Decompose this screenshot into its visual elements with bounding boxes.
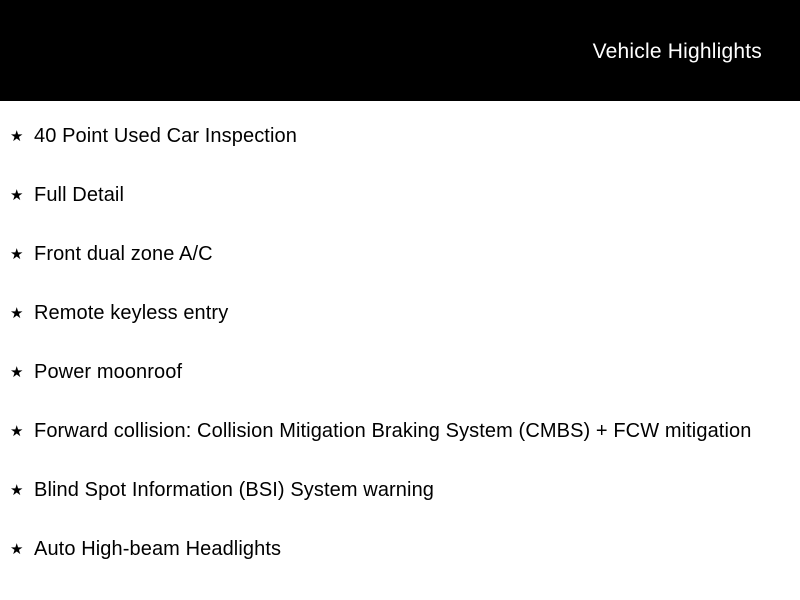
list-item: ★ Power moonroof (0, 355, 800, 389)
star-icon: ★ (10, 355, 34, 389)
star-icon: ★ (10, 473, 34, 507)
list-item: ★ Blind Spot Information (BSI) System wa… (0, 473, 800, 507)
star-icon: ★ (10, 414, 34, 448)
list-item-label: 40 Point Used Car Inspection (34, 119, 769, 153)
list-item: ★ Forward collision: Collision Mitigatio… (0, 414, 800, 448)
list-item-label: Forward collision: Collision Mitigation … (34, 414, 769, 448)
page-header: Vehicle Highlights (0, 0, 800, 101)
list-item: ★ Auto High-beam Headlights (0, 532, 800, 566)
list-item-label: Front dual zone A/C (34, 237, 769, 271)
list-item-label: Full Detail (34, 178, 769, 212)
list-item-label: Power moonroof (34, 355, 769, 389)
list-item-label: Remote keyless entry (34, 296, 769, 330)
list-item: ★ Remote keyless entry (0, 296, 800, 330)
vehicle-highlights-list: ★ 40 Point Used Car Inspection ★ Full De… (0, 101, 800, 600)
list-item: ★ 40 Point Used Car Inspection (0, 119, 800, 153)
list-item: ★ Full Detail (0, 178, 800, 212)
star-icon: ★ (10, 119, 34, 153)
star-icon: ★ (10, 178, 34, 212)
vehicle-highlights-page: Vehicle Highlights ★ 40 Point Used Car I… (0, 0, 800, 600)
page-title: Vehicle Highlights (593, 39, 800, 62)
list-item-label: Auto High-beam Headlights (34, 532, 769, 566)
star-icon: ★ (10, 532, 34, 566)
list-item: ★ Front dual zone A/C (0, 237, 800, 271)
list-item-label: Blind Spot Information (BSI) System warn… (34, 473, 769, 507)
star-icon: ★ (10, 237, 34, 271)
star-icon: ★ (10, 296, 34, 330)
